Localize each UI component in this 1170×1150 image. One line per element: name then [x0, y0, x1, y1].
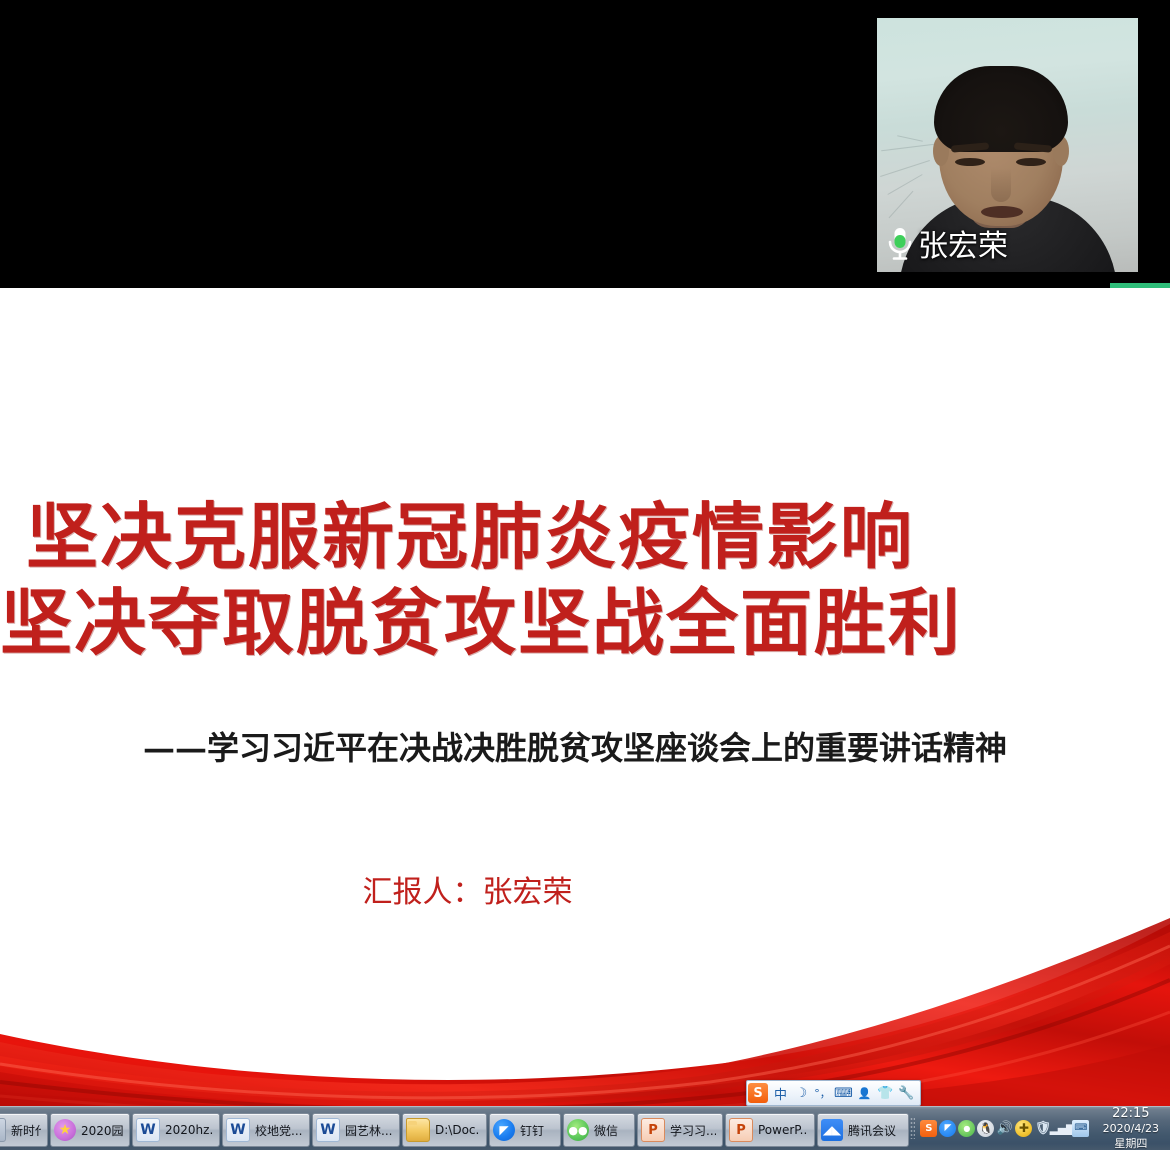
tray-grip-handle[interactable]	[910, 1117, 915, 1139]
taskbar-item-label: 学习习...	[670, 1122, 716, 1139]
dingtalk-icon: ◤	[493, 1119, 515, 1141]
taskbar-item-7[interactable]: ●● 微信	[563, 1113, 635, 1147]
tencent-meeting-icon: ◢◣	[821, 1119, 843, 1141]
wechat-tray-icon[interactable]: ●	[958, 1120, 975, 1137]
taskbar-item-label: 钉钉	[520, 1122, 544, 1139]
update-plus-icon[interactable]: ✚	[1015, 1120, 1032, 1137]
participant-video-tile[interactable]: 张宏荣	[877, 18, 1138, 272]
meeting-screen-share: 张宏荣 坚决克服新冠肺炎疫情影响 坚决夺取脱贫攻坚战全面胜利 ——学习习近平在决…	[0, 0, 1170, 1150]
participant-name: 张宏荣	[918, 232, 1008, 262]
star-icon: ★	[54, 1119, 76, 1141]
sogou-logo-icon[interactable]: S	[748, 1083, 768, 1103]
dingtalk-tray-icon[interactable]: ◤	[939, 1120, 956, 1137]
system-tray: S ◤ ● 🐧 🔊 ✚ 🛡 ▂▄▆ ⌨ 22:15 2020/4/23 星期四	[910, 1106, 1170, 1150]
slide-presenter: 汇报人：张宏荣	[0, 874, 935, 912]
background-line	[897, 135, 923, 141]
powerpoint-icon: P	[641, 1118, 665, 1142]
taskbar-item-label: 园艺林...	[345, 1122, 392, 1139]
slide-subtitle: ——学习习近平在决战决胜脱贫攻坚座谈会上的重要讲话精神	[0, 728, 1150, 768]
taskbar-item-6[interactable]: ◤ 钉钉	[489, 1113, 561, 1147]
red-ribbon-decoration	[0, 916, 1170, 1106]
word-icon: W	[136, 1118, 160, 1142]
slide-title: 坚决克服新冠肺炎疫情影响 坚决夺取脱贫攻坚战全面胜利	[0, 494, 940, 666]
taskbar-item-label: 校地党...	[255, 1122, 302, 1139]
microphone-icon[interactable]	[885, 225, 915, 268]
participant-mouth	[981, 206, 1023, 218]
word-icon: W	[316, 1118, 340, 1142]
background-line	[889, 191, 914, 218]
taskbar-item-10[interactable]: ◢◣ 腾讯会议	[817, 1113, 909, 1147]
participant-eye-right	[1016, 158, 1046, 166]
taskbar-item-4[interactable]: W 园艺林...	[312, 1113, 400, 1147]
participant-hair	[934, 66, 1068, 152]
qq-tray-icon[interactable]: 🐧	[977, 1120, 994, 1137]
ime-language-chinese[interactable]: 中	[772, 1084, 789, 1102]
ime-punctuation-mode[interactable]: ☽	[793, 1084, 810, 1102]
clock-date: 2020/4/23 星期四	[1099, 1121, 1162, 1150]
participant-eye-left	[955, 158, 985, 166]
participant-name-badge: 张宏荣	[885, 225, 1008, 268]
taskbar-item-label: 2020hz....	[165, 1123, 213, 1137]
participant-nose	[991, 168, 1011, 202]
taskbar-clock[interactable]: 22:15 2020/4/23 星期四	[1091, 1106, 1168, 1150]
taskbar-item-3[interactable]: W 校地党...	[222, 1113, 310, 1147]
taskbar-buttons: 新 新时代... ★ 2020园... W 2020hz.... W 校地党..…	[0, 1106, 910, 1150]
ime-user-center[interactable]: 👤	[856, 1084, 873, 1102]
ime-skin-changer[interactable]: 👕	[877, 1084, 894, 1102]
clock-time: 22:15	[1099, 1106, 1162, 1121]
taskbar-item-label: 微信	[594, 1122, 618, 1139]
taskbar-item-2[interactable]: W 2020hz....	[132, 1113, 220, 1147]
wechat-icon: ●●	[567, 1119, 589, 1141]
word-icon: W	[226, 1118, 250, 1142]
taskbar-item-1[interactable]: ★ 2020园...	[50, 1113, 130, 1147]
taskbar-item-label: D:\Doc...	[435, 1123, 480, 1137]
ime-settings-wrench[interactable]: 🔧	[898, 1084, 915, 1102]
slide-title-line-2: 坚决夺取脱贫攻坚战全面胜利	[0, 580, 940, 666]
presentation-slide[interactable]: 坚决克服新冠肺炎疫情影响 坚决夺取脱贫攻坚战全面胜利 ——学习习近平在决战决胜脱…	[0, 288, 1170, 1106]
ime-fullwidth-toggle[interactable]: °，	[814, 1084, 831, 1102]
taskbar-item-9[interactable]: P PowerP...	[725, 1113, 815, 1147]
network-signal-icon[interactable]: ▂▄▆	[1053, 1120, 1070, 1137]
taskbar-item-label: PowerP...	[758, 1123, 808, 1137]
slide-title-line-1: 坚决克服新冠肺炎疫情影响	[0, 494, 940, 580]
taskbar-item-5[interactable]: D:\Doc...	[402, 1113, 487, 1147]
powerpoint-icon: P	[729, 1118, 753, 1142]
taskbar-item-8[interactable]: P 学习习...	[637, 1113, 723, 1147]
folder-icon	[406, 1118, 430, 1142]
windows-taskbar[interactable]: 新 新时代... ★ 2020园... W 2020hz.... W 校地党..…	[0, 1106, 1170, 1150]
sogou-tray-icon[interactable]: S	[920, 1120, 937, 1137]
volume-icon[interactable]: 🔊	[996, 1120, 1013, 1137]
taskbar-item-label: 2020园...	[81, 1122, 123, 1139]
taskbar-item-0[interactable]: 新 新时代...	[0, 1113, 48, 1147]
video-strip: 张宏荣	[0, 0, 1170, 287]
sogou-ime-toolbar[interactable]: S 中 ☽ °， ⌨ 👤 👕 🔧	[746, 1080, 921, 1106]
ime-soft-keyboard[interactable]: ⌨	[835, 1084, 852, 1102]
background-line	[887, 174, 922, 195]
network-status-icon[interactable]: ⌨	[1072, 1120, 1089, 1137]
taskbar-item-label: 腾讯会议	[848, 1122, 896, 1139]
generic-app-icon: 新	[0, 1118, 6, 1142]
taskbar-item-label: 新时代...	[11, 1122, 41, 1139]
